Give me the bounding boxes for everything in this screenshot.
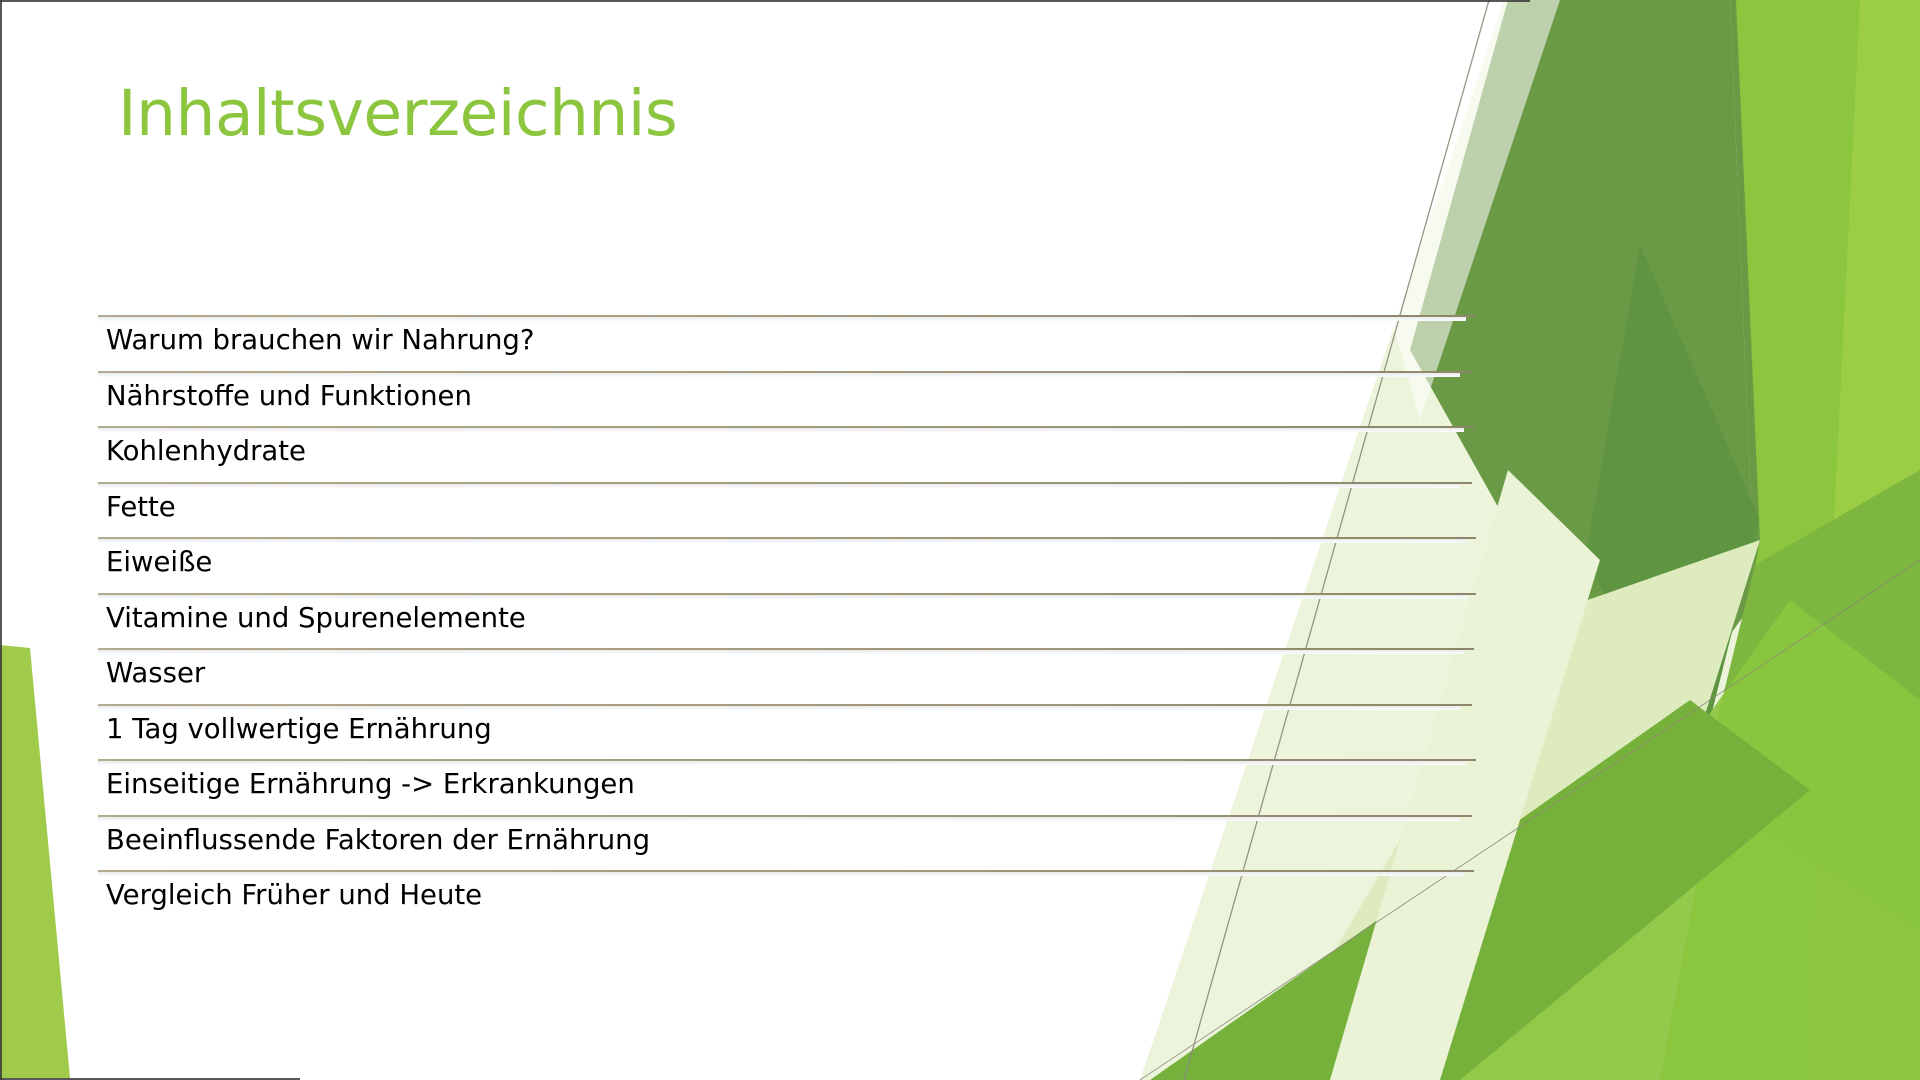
separator-shadow: [98, 761, 1466, 765]
slide-border-left: [0, 0, 2, 1080]
toc-item-label: Einseitige Ernährung -> Erkrankungen: [106, 768, 635, 801]
toc-separator: [98, 815, 1478, 821]
deco-shape-lime-column: [1660, 0, 1920, 1080]
toc-item-label: Wasser: [106, 657, 205, 690]
slide-border-top: [0, 0, 1530, 2]
deco-shape-mid-green-triangle: [1700, 470, 1920, 930]
toc-item-1[interactable]: Warum brauchen wir Nahrung?: [98, 315, 1478, 371]
toc-separator: [98, 704, 1478, 710]
toc-item-label: Beeinflussende Faktoren der Ernährung: [106, 824, 650, 857]
toc-separator: [98, 315, 1478, 321]
deco-shape-left-wedge: [0, 645, 70, 1078]
deco-shape-lime-sliver-right: [1806, 0, 1920, 1080]
slide-canvas: Inhaltsverzeichnis Warum brauchen wir Na…: [0, 0, 1920, 1080]
toc-separator: [98, 593, 1478, 599]
toc-separator: [98, 537, 1478, 543]
toc-item-7[interactable]: Wasser: [98, 648, 1478, 704]
toc-item-label: Nährstoffe und Funktionen: [106, 380, 472, 413]
toc-item-9[interactable]: Einseitige Ernährung -> Erkrankungen: [98, 759, 1478, 815]
toc-item-label: Kohlenhydrate: [106, 435, 306, 468]
toc-item-6[interactable]: Vitamine und Spurenelemente: [98, 593, 1478, 649]
toc-separator: [98, 371, 1478, 377]
separator-shadow: [98, 484, 1460, 488]
toc-item-label: Warum brauchen wir Nahrung?: [106, 324, 534, 357]
toc-item-3[interactable]: Kohlenhydrate: [98, 426, 1478, 482]
toc-item-label: Vergleich Früher und Heute: [106, 879, 482, 912]
separator-shadow: [98, 373, 1460, 377]
toc-separator: [98, 482, 1478, 488]
separator-shadow: [98, 539, 1466, 543]
deco-shape-dark-green-right: [1730, 0, 1920, 600]
toc-item-label: 1 Tag vollwertige Ernährung: [106, 713, 492, 746]
toc-separator: [98, 870, 1478, 876]
toc-item-8[interactable]: 1 Tag vollwertige Ernährung: [98, 704, 1478, 760]
separator-shadow: [98, 317, 1466, 321]
separator-shadow: [98, 872, 1464, 876]
toc-item-label: Fette: [106, 491, 176, 524]
separator-shadow: [98, 650, 1464, 654]
deco-shape-deep-green-wedge: [1585, 245, 1760, 760]
separator-shadow: [98, 428, 1464, 432]
separator-shadow: [98, 817, 1460, 821]
toc-item-10[interactable]: Beeinflussende Faktoren der Ernährung: [98, 815, 1478, 871]
toc-separator: [98, 759, 1478, 765]
toc-separator: [98, 648, 1478, 654]
separator-shadow: [98, 706, 1460, 710]
toc-item-label: Vitamine und Spurenelemente: [106, 602, 526, 635]
toc-item-5[interactable]: Eiweiße: [98, 537, 1478, 593]
table-of-contents: Warum brauchen wir Nahrung? Nährstoffe u…: [98, 315, 1478, 926]
toc-item-2[interactable]: Nährstoffe und Funktionen: [98, 371, 1478, 427]
toc-item-4[interactable]: Fette: [98, 482, 1478, 538]
toc-item-11[interactable]: Vergleich Früher und Heute: [98, 870, 1478, 926]
separator-shadow: [98, 595, 1466, 599]
toc-item-label: Eiweiße: [106, 546, 212, 579]
toc-separator: [98, 426, 1478, 432]
page-title: Inhaltsverzeichnis: [118, 78, 677, 150]
deco-shape-light-diagonal: [1450, 600, 1920, 1080]
